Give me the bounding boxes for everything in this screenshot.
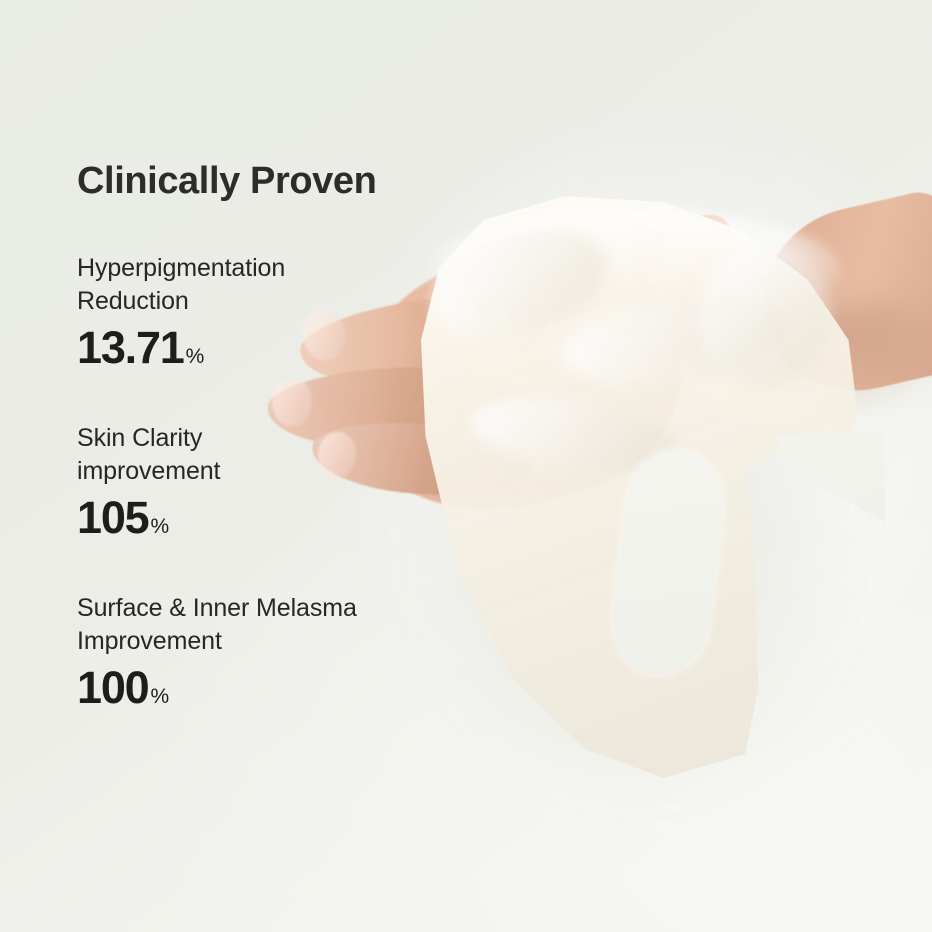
clinical-results-poster: Clinically Proven Hyperpigmentation Redu… <box>0 0 932 932</box>
stat-unit: % <box>150 515 168 539</box>
stat-block-skin-clarity: Skin Clarity improvement 105 % <box>77 422 220 541</box>
page-title: Clinically Proven <box>77 160 376 203</box>
stat-block-melasma: Surface & Inner Melasma Improvement 100 … <box>77 592 357 711</box>
stat-block-hyperpigmentation: Hyperpigmentation Reduction 13.71 % <box>77 252 285 371</box>
stat-value: 13.71 % <box>77 324 285 371</box>
stat-label: Hyperpigmentation Reduction <box>77 252 285 318</box>
stat-number: 13.71 <box>77 324 184 371</box>
stat-label: Skin Clarity improvement <box>77 422 220 488</box>
stat-unit: % <box>186 345 204 369</box>
stat-value: 105 % <box>77 494 220 541</box>
stat-number: 100 <box>77 664 148 711</box>
stat-label: Surface & Inner Melasma Improvement <box>77 592 357 658</box>
stat-value: 100 % <box>77 664 357 711</box>
stat-unit: % <box>150 685 168 709</box>
stat-number: 105 <box>77 494 148 541</box>
text-column: Clinically Proven Hyperpigmentation Redu… <box>0 0 440 932</box>
